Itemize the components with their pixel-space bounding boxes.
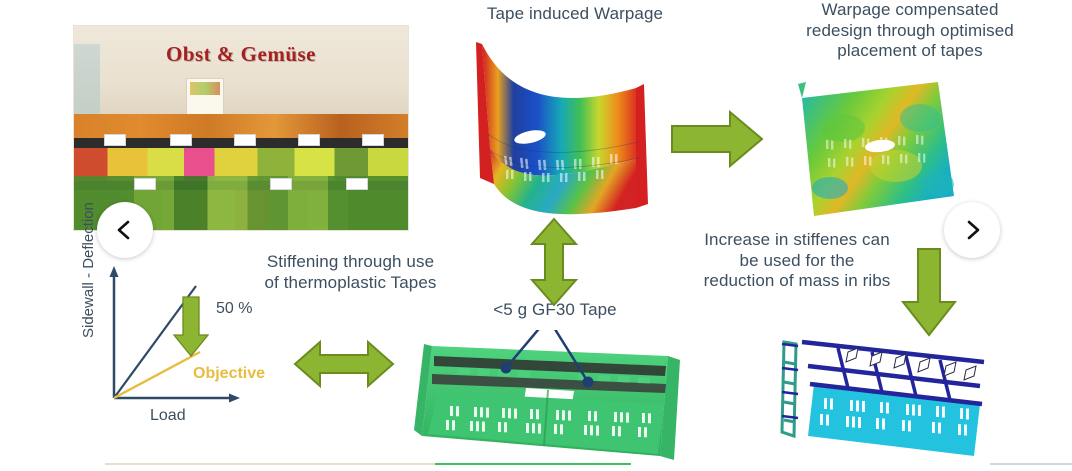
sidewall-deflection-chart: Sidewall - Deflection Load Objective 50 … bbox=[88, 252, 303, 447]
carousel-indicator-segment-2[interactable] bbox=[435, 463, 631, 465]
chevron-right-icon bbox=[961, 219, 983, 241]
carousel-indicator-segment-1[interactable] bbox=[105, 463, 435, 465]
figure-green-crate bbox=[398, 330, 698, 470]
arrow-double-vertical-center bbox=[528, 216, 580, 308]
figure-tape-induced-warpage bbox=[468, 38, 668, 223]
supermarket-photo: Obst & Gemüse bbox=[74, 26, 408, 230]
carousel-next-button[interactable] bbox=[944, 202, 1000, 258]
chart-objective-annotation: Objective bbox=[193, 365, 265, 383]
carousel-indicator-segment-3[interactable] bbox=[990, 463, 1072, 465]
caption-increase-stiffness-ribs: Increase in stiffenes can be used for th… bbox=[672, 230, 922, 292]
caption-tape-induced-warpage: Tape induced Warpage bbox=[460, 4, 690, 25]
arrow-double-horizontal-left bbox=[292, 338, 396, 390]
caption-warpage-compensated: Warpage compensated redesign through opt… bbox=[770, 0, 1050, 62]
arrow-right-warpage-to-compensated bbox=[668, 108, 766, 170]
chevron-left-icon bbox=[114, 219, 136, 241]
figure-warpage-compensated bbox=[788, 76, 968, 224]
photo-sign-text: Obst & Gemüse bbox=[74, 42, 408, 67]
carousel-indicator-bar[interactable] bbox=[0, 463, 1072, 466]
slide-stage: Obst & Gemüse Tape induced Warpage Warpa… bbox=[0, 0, 1072, 471]
carousel-prev-button[interactable] bbox=[97, 202, 153, 258]
chart-reduction-annotation: 50 % bbox=[216, 300, 252, 318]
chart-y-axis-label: Sidewall - Deflection bbox=[80, 202, 97, 338]
figure-rib-structure bbox=[768, 332, 1008, 464]
photo-wall bbox=[74, 26, 408, 122]
arrow-down-to-ribs bbox=[898, 246, 960, 338]
chart-x-axis-label: Load bbox=[150, 407, 186, 425]
